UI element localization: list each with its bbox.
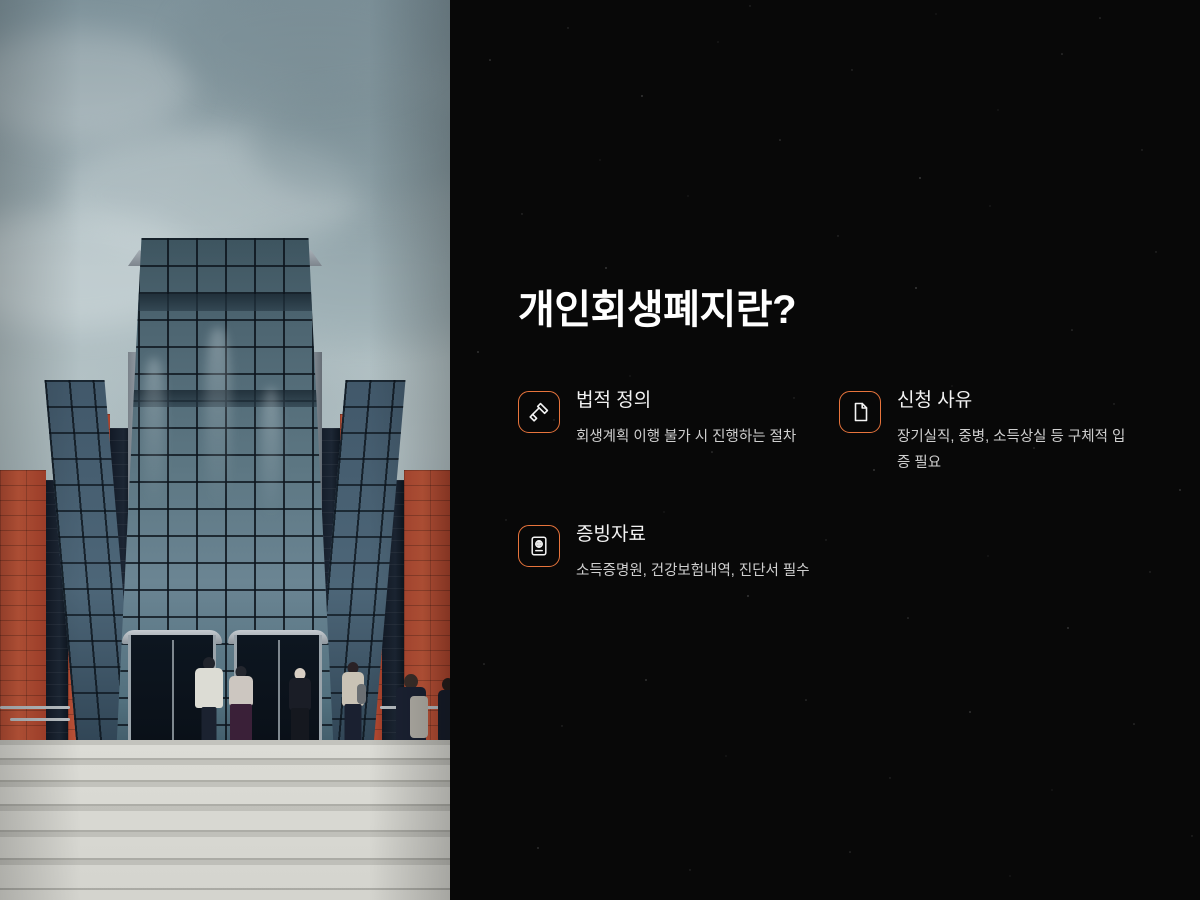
feature-description: 회생계획 이행 불가 시 진행하는 절차 <box>576 424 805 451</box>
handrail-left <box>10 718 70 721</box>
person-walking <box>340 662 366 748</box>
handrail-left <box>0 706 70 709</box>
page-title: 개인회생폐지란? <box>518 288 1160 333</box>
person-bag <box>357 684 366 704</box>
feature-list: 법적 정의 회생계획 이행 불가 시 진행하는 절차 신청 사유 장기실 <box>518 389 1160 585</box>
passport-icon <box>518 525 560 567</box>
step-edge <box>0 888 450 890</box>
step-edge <box>0 740 450 745</box>
floor-band <box>109 294 341 311</box>
person-torso <box>229 676 253 706</box>
person-walking <box>288 668 312 746</box>
feature-description: 소득증명원, 건강보험내역, 진단서 필수 <box>576 558 1160 585</box>
feature-item-legal-definition[interactable]: 법적 정의 회생계획 이행 불가 시 진행하는 절차 <box>518 389 839 477</box>
glass-reflection <box>143 358 165 508</box>
feature-body: 신청 사유 장기실직, 중병, 소득상실 등 구체적 입증 필요 <box>897 389 1126 477</box>
step-edge <box>0 806 450 811</box>
glass-reflection <box>205 328 231 508</box>
step-edge <box>0 860 450 865</box>
person-torso <box>195 668 223 708</box>
content-inner: 개인회생폐지란? 법적 정의 회생계획 이행 불가 시 진행하는 절차 <box>518 288 1160 585</box>
backpack-icon <box>410 696 428 738</box>
step-edge <box>0 782 450 787</box>
gavel-icon <box>518 391 560 433</box>
person-torso <box>289 678 311 710</box>
feature-description: 장기실직, 중병, 소득상실 등 구체적 입증 필요 <box>897 424 1126 478</box>
glass-reflection <box>261 388 281 518</box>
feature-title: 신청 사유 <box>897 389 1126 413</box>
slide-root: 개인회생폐지란? 법적 정의 회생계획 이행 불가 시 진행하는 절차 <box>0 0 1200 900</box>
feature-item-application-reason[interactable]: 신청 사유 장기실직, 중병, 소득상실 등 구체적 입증 필요 <box>839 389 1160 477</box>
door-mullion <box>278 640 280 744</box>
person-torso <box>438 690 450 742</box>
feature-item-evidence-documents[interactable]: 증빙자료 소득증명원, 건강보험내역, 진단서 필수 <box>518 523 1160 585</box>
step-edge <box>0 760 450 765</box>
feature-body: 법적 정의 회생계획 이행 불가 시 진행하는 절차 <box>576 389 805 451</box>
content-panel: 개인회생폐지란? 법적 정의 회생계획 이행 불가 시 진행하는 절차 <box>450 0 1200 900</box>
document-icon <box>839 391 881 433</box>
feature-title: 법적 정의 <box>576 389 805 413</box>
entrance-steps <box>0 740 450 900</box>
step-edge <box>0 832 450 837</box>
feature-body: 증빙자료 소득증명원, 건강보험내역, 진단서 필수 <box>576 523 1160 585</box>
door-mullion <box>172 640 174 744</box>
hero-photo <box>0 0 450 900</box>
feature-title: 증빙자료 <box>576 523 1160 547</box>
person-walking <box>228 666 254 746</box>
person-walking <box>194 657 224 747</box>
